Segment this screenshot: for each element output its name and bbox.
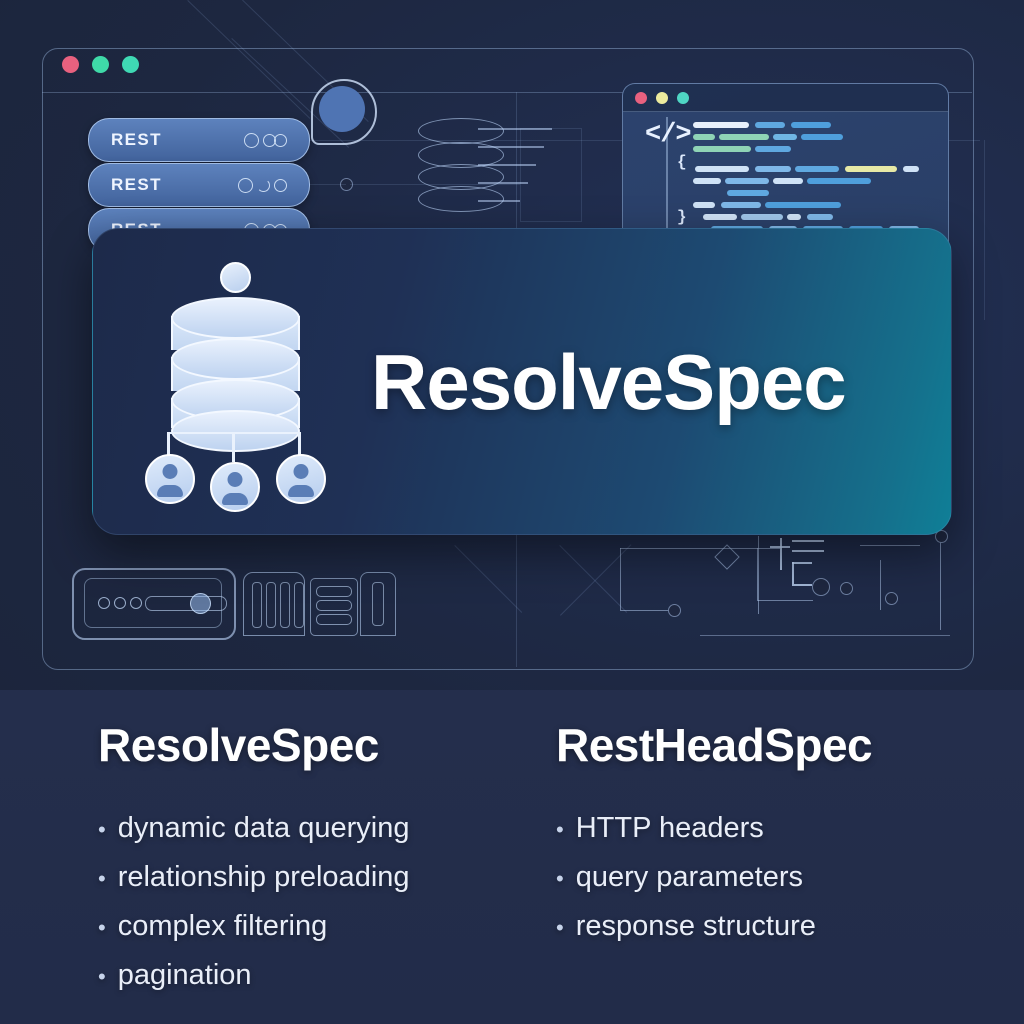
code-line xyxy=(765,202,841,208)
circuit-node xyxy=(668,604,681,617)
database-cluster-icon xyxy=(115,252,365,512)
circuit-trace xyxy=(757,600,813,601)
code-line xyxy=(719,134,769,140)
code-brace-icon: } xyxy=(677,208,687,226)
code-line xyxy=(787,214,801,220)
logo-user-node xyxy=(276,454,326,504)
list-item: • response structure xyxy=(556,910,976,943)
database-stack-line xyxy=(478,146,544,148)
code-line xyxy=(801,134,843,140)
feature-column-restheadspec: RestHeadSpec • HTTP headers • query para… xyxy=(556,718,976,959)
code-line xyxy=(755,122,785,128)
code-line xyxy=(773,178,803,184)
code-line xyxy=(795,166,839,172)
heatsink-fin xyxy=(280,582,290,628)
circuit-trace xyxy=(792,584,812,586)
bullet-icon: • xyxy=(98,868,106,890)
feature-column-title: ResolveSpec xyxy=(98,718,498,772)
heatsink-fin xyxy=(252,582,262,628)
code-window-traffic-lights[interactable] xyxy=(635,92,689,104)
circuit-trace xyxy=(792,540,824,542)
code-line xyxy=(693,146,751,152)
list-item: • dynamic data querying xyxy=(98,812,498,845)
code-brace-icon: { xyxy=(677,153,687,171)
code-line xyxy=(695,166,749,172)
bullet-icon: • xyxy=(556,868,564,890)
feature-column-resolvespec: ResolveSpec • dynamic data querying • re… xyxy=(98,718,498,1008)
blueprint-line xyxy=(984,140,985,320)
feature-list: • dynamic data querying • relationship p… xyxy=(98,812,498,992)
features-section: ResolveSpec • dynamic data querying • re… xyxy=(0,690,1024,1024)
circle-outline-icon xyxy=(244,133,259,148)
code-tag-icon: </> xyxy=(645,120,691,150)
list-item: • HTTP headers xyxy=(556,812,976,845)
list-item-label: relationship preloading xyxy=(118,861,410,894)
feature-column-title: RestHeadSpec xyxy=(556,718,976,772)
circuit-trace xyxy=(620,548,780,549)
list-item-label: pagination xyxy=(118,959,252,992)
rack-indicator-dot xyxy=(98,597,110,609)
code-line xyxy=(693,134,715,140)
rest-pill-label: REST xyxy=(111,175,162,195)
circuit-node xyxy=(812,578,830,596)
logo-user-node xyxy=(145,454,195,504)
hero-illustration: REST REST REST xyxy=(0,0,1024,690)
crescent-icon xyxy=(257,179,270,192)
circuit-node xyxy=(885,592,898,605)
circuit-trace xyxy=(940,540,941,630)
circle-outline-icon xyxy=(274,179,287,192)
logo-top-node xyxy=(220,262,251,293)
circuit-trace xyxy=(780,538,782,570)
list-item-label: dynamic data querying xyxy=(118,812,410,845)
list-item-label: HTTP headers xyxy=(576,812,764,845)
code-editor-window: </> { } xyxy=(622,83,949,250)
module-bar xyxy=(316,600,352,611)
list-item-label: complex filtering xyxy=(118,910,328,943)
code-line xyxy=(725,178,769,184)
logo-cylinder xyxy=(171,297,296,442)
circuit-trace xyxy=(792,562,812,564)
code-line xyxy=(721,202,761,208)
module-slot xyxy=(372,582,384,626)
database-stack-line xyxy=(478,164,536,166)
page-title: ResolveSpec xyxy=(371,343,846,421)
circuit-trace xyxy=(880,560,881,610)
code-line xyxy=(791,122,831,128)
rest-pill-icons xyxy=(238,178,287,193)
bullet-icon: • xyxy=(556,917,564,939)
circuit-trace xyxy=(758,536,759,614)
rack-indicator-dot xyxy=(114,597,126,609)
rack-slider-knob xyxy=(190,593,211,614)
module-bar xyxy=(316,614,352,625)
code-line xyxy=(755,166,791,172)
list-item-label: response structure xyxy=(576,910,816,943)
database-stack-line xyxy=(478,200,520,202)
bullet-icon: • xyxy=(98,819,106,841)
close-dot[interactable] xyxy=(635,92,647,104)
code-line xyxy=(903,166,919,172)
circle-outline-icon xyxy=(274,134,287,147)
rack-slider-track xyxy=(145,596,227,611)
rest-list-item[interactable]: REST xyxy=(88,163,310,207)
close-dot[interactable] xyxy=(62,56,79,73)
circle-outline-icon xyxy=(238,178,253,193)
database-stack-line xyxy=(478,128,552,130)
outer-window-traffic-lights[interactable] xyxy=(62,56,139,73)
database-stack-line xyxy=(478,182,528,184)
bullet-icon: • xyxy=(98,966,106,988)
poster-root: REST REST REST xyxy=(0,0,1024,1024)
bullet-icon: • xyxy=(556,819,564,841)
code-line xyxy=(693,202,715,208)
minimize-dot[interactable] xyxy=(92,56,109,73)
rest-list-item[interactable]: REST xyxy=(88,118,310,162)
code-line xyxy=(755,146,791,152)
rest-pill-icons xyxy=(244,133,287,148)
circuit-trace xyxy=(860,545,920,546)
code-line xyxy=(773,134,797,140)
module-bar xyxy=(316,586,352,597)
logo-connector xyxy=(298,432,301,456)
heatsink-fin xyxy=(294,582,304,628)
circuit-trace xyxy=(792,550,824,552)
minimize-dot[interactable] xyxy=(656,92,668,104)
logo-connector xyxy=(167,432,299,435)
circuit-trace xyxy=(620,548,621,610)
list-item: • pagination xyxy=(98,959,498,992)
circuit-node xyxy=(840,582,853,595)
code-line xyxy=(741,214,783,220)
list-item: • query parameters xyxy=(556,861,976,894)
feature-list: • HTTP headers • query parameters • resp… xyxy=(556,812,976,943)
code-line xyxy=(703,214,737,220)
heatsink-fin xyxy=(266,582,276,628)
circuit-trace xyxy=(700,635,950,636)
code-line xyxy=(693,178,721,184)
chat-bubble-icon xyxy=(311,79,377,145)
rest-pill-label: REST xyxy=(111,130,162,150)
code-line xyxy=(807,178,871,184)
bullet-icon: • xyxy=(98,917,106,939)
rack-indicator-dot xyxy=(130,597,142,609)
logo-connector xyxy=(167,432,170,456)
code-line xyxy=(845,166,897,172)
code-line xyxy=(807,214,833,220)
list-item-label: query parameters xyxy=(576,861,803,894)
code-line xyxy=(727,190,769,196)
logo-user-node xyxy=(210,462,260,512)
list-item: • relationship preloading xyxy=(98,861,498,894)
maximize-dot[interactable] xyxy=(122,56,139,73)
circuit-trace xyxy=(792,562,794,584)
code-line xyxy=(693,122,749,128)
maximize-dot[interactable] xyxy=(677,92,689,104)
list-item: • complex filtering xyxy=(98,910,498,943)
logo-connector xyxy=(232,434,235,462)
resolvespec-hero-card: ResolveSpec xyxy=(92,228,952,535)
